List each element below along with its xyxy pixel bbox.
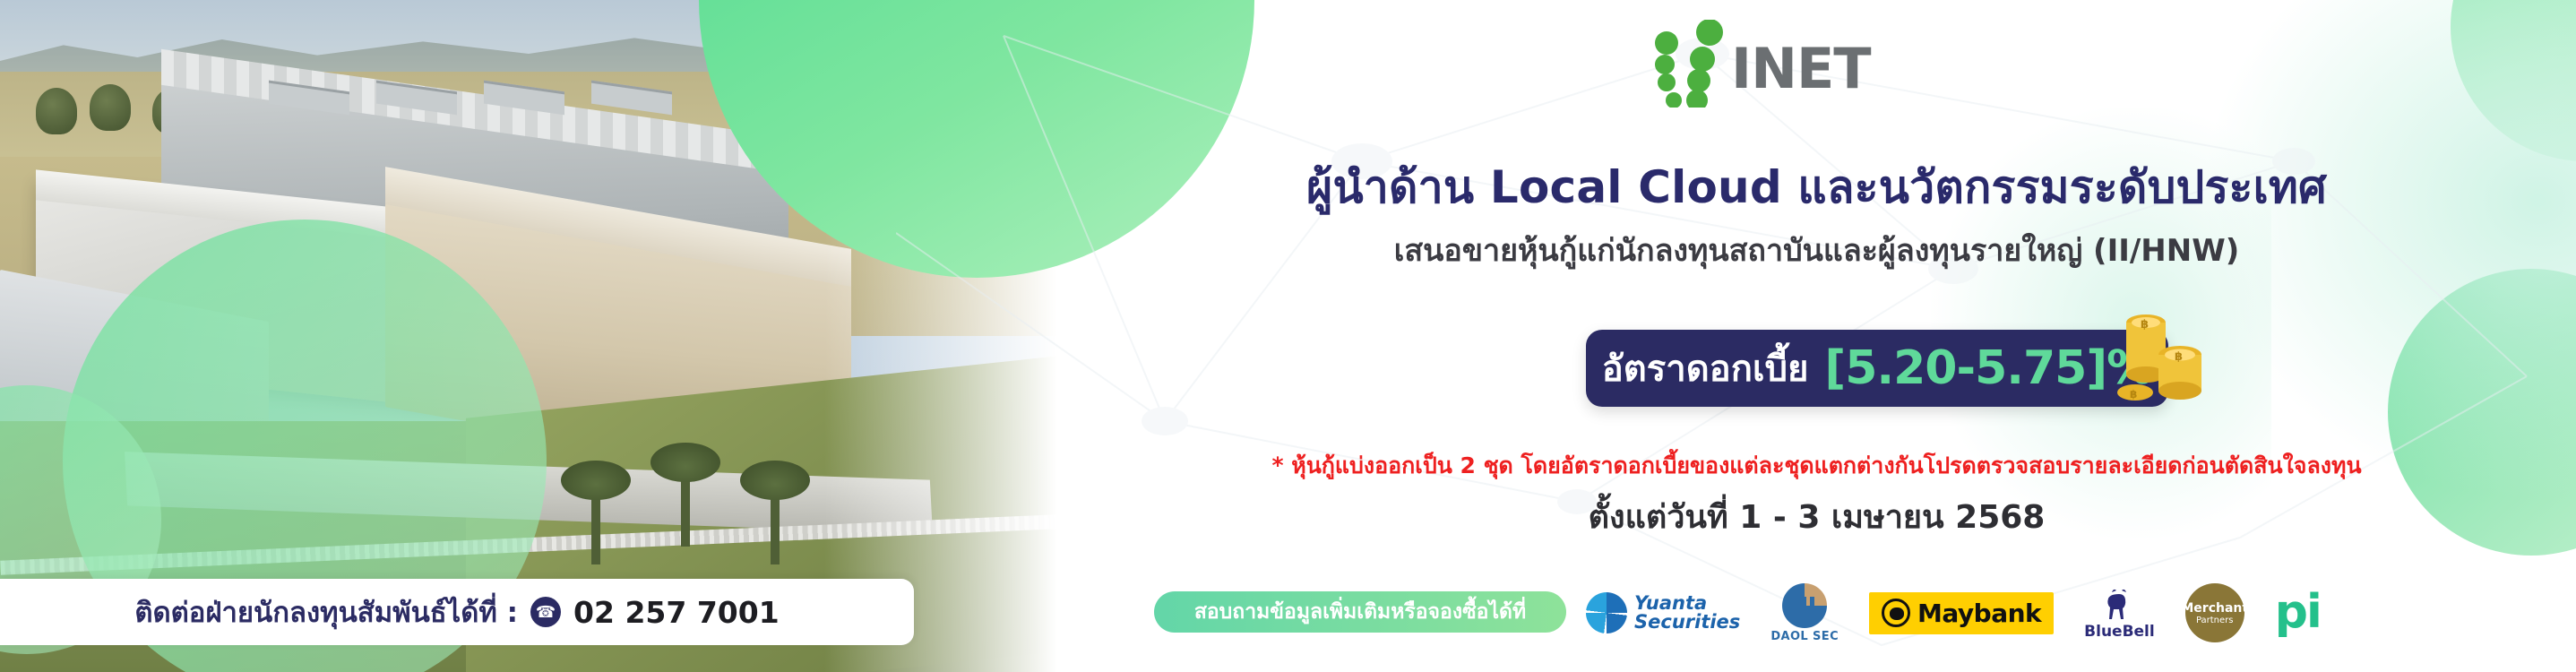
interest-rate-box: อัตราดอกเบี้ย [5.20-5.75]% [1586, 330, 2168, 407]
bluebell-deer-icon [2099, 585, 2139, 625]
inet-logo-text: INET [1731, 36, 1871, 101]
bluebell-label: BlueBell [2084, 623, 2155, 641]
merchant-line2: Partners [2196, 616, 2234, 625]
broker-bluebell[interactable]: BlueBell [2084, 579, 2155, 647]
maybank-tiger-icon [1882, 599, 1910, 627]
merchant-line1: Merchant [2181, 601, 2248, 616]
broker-logo-row: Yuanta Securities DAOL SEC Maybank BlueB… [1586, 579, 2563, 647]
inet-logo[interactable]: INET [1631, 20, 1935, 108]
maybank-label: Maybank [1917, 599, 2041, 628]
daol-pie-icon [1782, 583, 1827, 628]
broker-daol[interactable]: DAOL SEC [1770, 579, 1839, 647]
broker-merchant-partners[interactable]: Merchant Partners [2185, 579, 2244, 647]
contact-label: ติดต่อฝ่ายนักลงทุนสัมพันธ์ได้ที่ : [134, 590, 518, 634]
interest-rate-value: [5.20-5.75]% [1824, 341, 2152, 395]
yuanta-line1: Yuanta [1634, 594, 1740, 613]
svg-text:฿: ฿ [2141, 318, 2149, 332]
page-title: ผู้นำด้าน Local Cloud และนวัตกรรมระดับปร… [1057, 152, 2576, 223]
broker-maybank[interactable]: Maybank [1869, 579, 2054, 647]
merchant-circle-icon: Merchant Partners [2185, 583, 2244, 642]
svg-text:฿: ฿ [2130, 388, 2137, 401]
daol-label: DAOL SEC [1770, 630, 1839, 643]
broker-pi[interactable]: pi [2275, 579, 2321, 647]
inet-dots-icon [1631, 20, 1738, 108]
gold-coins-icon: ฿ ฿ ฿ [2110, 303, 2209, 410]
offer-date-range: ตั้งแต่วันที่ 1 - 3 เมษายน 2568 [1057, 491, 2576, 542]
contact-phone-number[interactable]: 02 257 7001 [573, 595, 780, 630]
content-panel: INET ผู้นำด้าน Local Cloud และนวัตกรรมระ… [1057, 0, 2576, 672]
yuanta-line2: Securities [1634, 613, 1740, 632]
cta-label: สอบถามข้อมูลเพิ่มเติมหรือจองซื้อได้ที่ [1194, 596, 1526, 628]
pi-wordmark-icon: pi [2275, 594, 2321, 632]
yuanta-star-icon [1586, 592, 1627, 633]
disclaimer-text: * หุ้นกู้แบ่งออกเป็น 2 ชุด โดยอัตราดอกเบ… [1057, 448, 2576, 484]
phone-icon: ☎ [530, 597, 561, 627]
cta-button[interactable]: สอบถามข้อมูลเพิ่มเติมหรือจองซื้อได้ที่ [1154, 591, 1566, 633]
contact-bar: ติดต่อฝ่ายนักลงทุนสัมพันธ์ได้ที่ : ☎ 02 … [0, 579, 914, 645]
broker-yuanta[interactable]: Yuanta Securities [1586, 579, 1740, 647]
promotional-banner: INET ผู้นำด้าน Local Cloud และนวัตกรรมระ… [0, 0, 2576, 672]
svg-text:฿: ฿ [2175, 350, 2183, 364]
page-subtitle: เสนอขายหุ้นกู้แก่นักลงทุนสถาบันและผู้ลงท… [1057, 226, 2576, 274]
interest-rate-label: อัตราดอกเบี้ย [1602, 340, 1809, 397]
